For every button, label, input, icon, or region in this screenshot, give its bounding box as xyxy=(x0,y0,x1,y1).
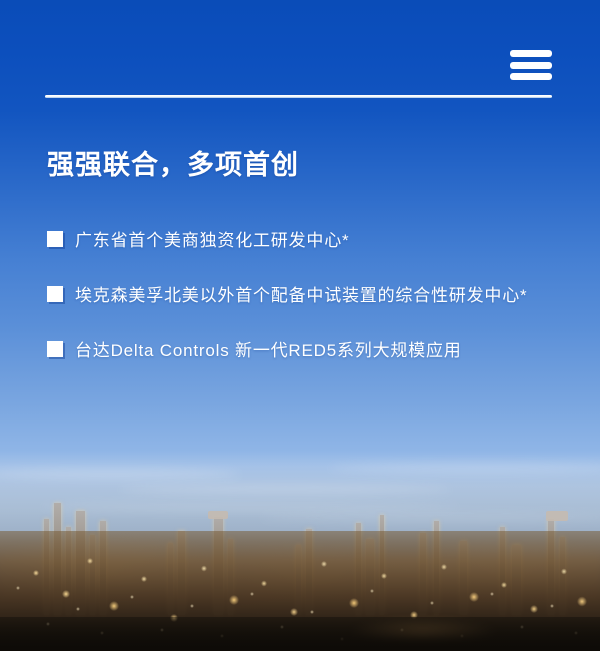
list-item-label: 台达Delta Controls 新一代RED5系列大规模应用 xyxy=(75,341,462,360)
menu-bar-1 xyxy=(510,50,552,57)
page-root: 强强联合，多项首创 广东省首个美商独资化工研发中心* 埃克森美孚北美以外首个配备… xyxy=(0,0,600,651)
list-item-label: 埃克森美孚北美以外首个配备中试装置的综合性研发中心* xyxy=(75,286,527,305)
list-item: 台达Delta Controls 新一代RED5系列大规模应用 xyxy=(47,334,560,367)
list-item-label: 广东省首个美商独资化工研发中心* xyxy=(75,231,349,250)
square-bullet-icon xyxy=(47,341,63,357)
site-header xyxy=(0,0,600,110)
hamburger-menu-icon[interactable] xyxy=(510,50,552,80)
header-divider xyxy=(45,95,552,98)
plant-structure xyxy=(0,491,600,651)
main-content: 强强联合，多项首创 广东省首个美商独资化工研发中心* 埃克森美孚北美以外首个配备… xyxy=(47,146,560,367)
page-title: 强强联合，多项首创 xyxy=(47,146,560,184)
menu-bar-3 xyxy=(510,73,552,80)
list-item: 埃克森美孚北美以外首个配备中试装置的综合性研发中心* xyxy=(47,279,560,312)
foreground-ground xyxy=(0,617,600,651)
square-bullet-icon xyxy=(47,231,63,247)
refinery-photo xyxy=(0,451,600,651)
menu-bar-2 xyxy=(510,62,552,69)
feature-bullet-list: 广东省首个美商独资化工研发中心* 埃克森美孚北美以外首个配备中试装置的综合性研发… xyxy=(47,224,560,367)
square-bullet-icon xyxy=(47,286,63,302)
list-item: 广东省首个美商独资化工研发中心* xyxy=(47,224,560,257)
